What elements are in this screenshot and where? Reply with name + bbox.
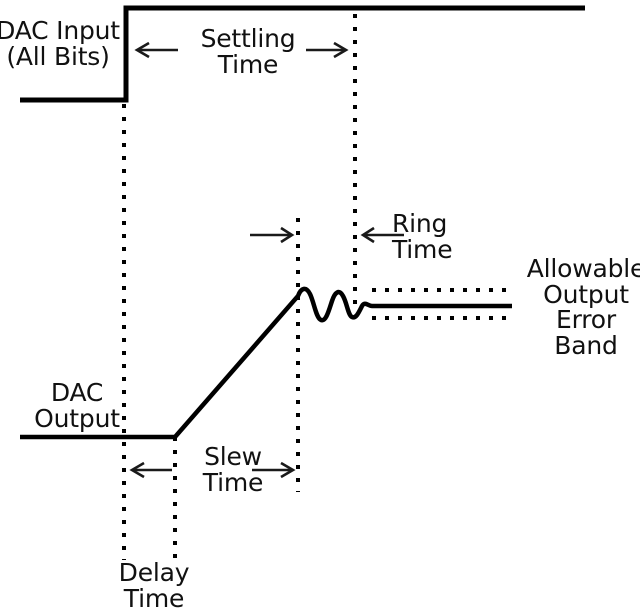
slew-time-left-arrow (132, 463, 172, 477)
ring-time-left-arrow (250, 228, 292, 242)
dac-settling-time-diagram: DAC Input (All Bits) Settling Time Ring … (0, 0, 640, 607)
label-ring-time: Ring Time (392, 211, 512, 262)
label-slew-time: Slew Time (177, 444, 289, 495)
settling-time-left-arrow (137, 43, 178, 57)
label-allowable-output-error-band: Allowable Output Error Band (524, 256, 640, 358)
label-dac-output: DAC Output (18, 380, 136, 431)
label-settling-time: Settling Time (180, 26, 316, 77)
label-delay-time: Delay Time (96, 560, 212, 611)
label-dac-input: DAC Input (All Bits) (0, 18, 122, 69)
